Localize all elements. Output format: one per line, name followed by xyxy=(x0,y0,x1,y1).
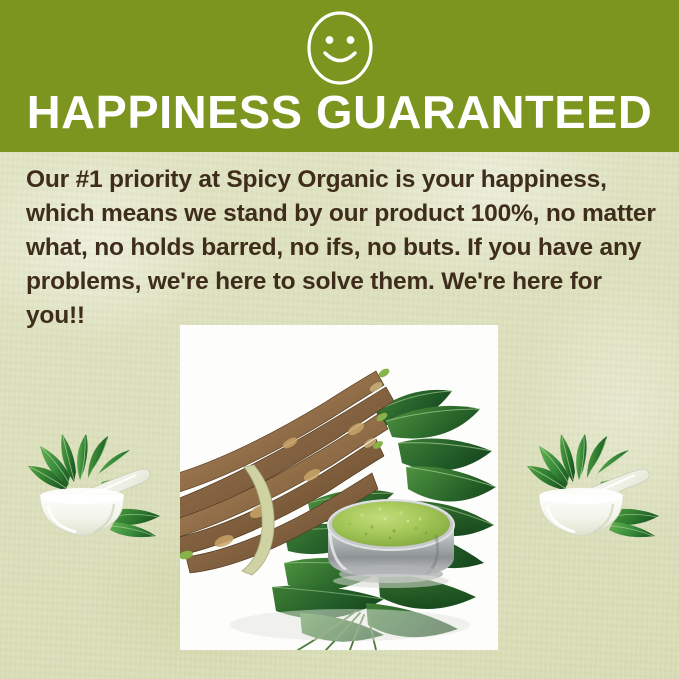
product-photo: Neem twigs bundle, fresh neem leaves and… xyxy=(180,325,498,650)
header-band: HAPPINESS GUARANTEED xyxy=(0,0,679,152)
product-photo-canvas xyxy=(180,325,498,650)
smiley-face-icon xyxy=(299,7,381,89)
steel-bowl-of-neem-powder xyxy=(328,500,454,588)
guarantee-paragraph: Our #1 priority at Spicy Organic is your… xyxy=(26,163,662,333)
mortar-and-pestle-right xyxy=(513,432,665,552)
mortar-and-pestle-left xyxy=(14,432,166,552)
page-title: HAPPINESS GUARANTEED xyxy=(0,86,679,138)
happiness-guarantee-banner-page: HAPPINESS GUARANTEED Our #1 priority at … xyxy=(0,0,679,679)
